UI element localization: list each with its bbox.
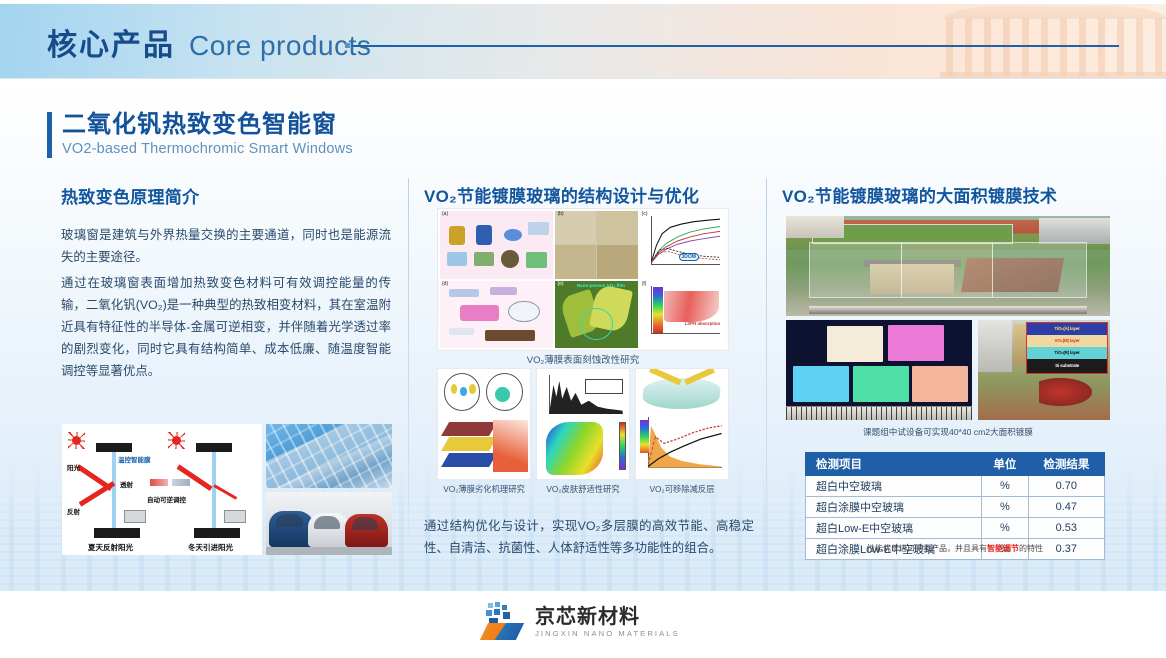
section-accent-bar bbox=[47, 112, 52, 158]
diagram-label-auto: 自动可逆调控 bbox=[147, 494, 186, 504]
table-header-result: 检测结果 bbox=[1028, 453, 1104, 476]
column-a-figure-row: 阳光 温控智能膜 透射 反射 自动可逆调控 夏天反射阳光 冬天引进阳光 bbox=[62, 424, 392, 555]
footnote-highlight: 智能调节 bbox=[987, 544, 1019, 553]
section-title: 二氧化钒热致变色智能窗 VO2-based Thermochromic Smar… bbox=[47, 110, 353, 159]
table-cell-unit: % bbox=[982, 476, 1029, 497]
section-rule bbox=[352, 45, 1119, 47]
colonnade-building-icon bbox=[936, 4, 1166, 78]
sun-icon-winter bbox=[168, 432, 185, 449]
column-divider-2 bbox=[766, 178, 767, 556]
smart-window-principle-diagram: 阳光 温控智能膜 透射 反射 自动可逆调控 夏天反射阳光 冬天引进阳光 bbox=[62, 424, 262, 555]
column-divider-1 bbox=[408, 178, 409, 556]
section-title-cn: 二氧化钒热致变色智能窗 bbox=[62, 110, 353, 140]
figure-caption-1: VO₂薄膜劣化机理研究 bbox=[437, 483, 531, 495]
panel-e-annotation: Nano-porous VO₂ film bbox=[577, 283, 625, 288]
ruler-icon bbox=[786, 406, 972, 420]
footnote-suffix: 的特性 bbox=[1019, 544, 1043, 553]
arrow-left-icon bbox=[150, 479, 168, 486]
panel-f-annotation: LSPR absorption bbox=[685, 321, 721, 326]
column-b-heading: VO₂节能镀膜玻璃的结构设计与优化 bbox=[424, 182, 699, 207]
synthesis-route-panel: (a) bbox=[440, 211, 553, 279]
table-header-unit: 单位 bbox=[982, 453, 1029, 476]
three-cars-photo bbox=[266, 492, 392, 556]
column-c-photo-row: TiO₂(A) layer VO₂(M) layer TiO₂(R) layer… bbox=[786, 320, 1110, 420]
removable-antireflection-layer-figure bbox=[635, 368, 729, 480]
diagram-caption-winter: 冬天引进阳光 bbox=[188, 542, 233, 553]
table-cell-item: 超白中空玻璃 bbox=[806, 476, 982, 497]
film-layer-stack-diagram: TiO₂(A) layer VO₂(M) layer TiO₂(R) layer… bbox=[1026, 322, 1108, 374]
slide-header: 核心产品 Core products bbox=[0, 4, 1166, 78]
table-cell-item: 超白Low-E中空玻璃 bbox=[806, 518, 982, 539]
table-row: 超白Low-E中空玻璃 % 0.53 bbox=[806, 518, 1105, 539]
large-area-coated-glass-outdoor-photo bbox=[786, 216, 1110, 316]
column-a-paragraph-2: 通过在玻璃窗表面增加热致变色材料可有效调控能量的传输，二氧化钒(VO₂)是一种典… bbox=[61, 272, 391, 382]
column-b-figure-bottom-row bbox=[437, 368, 729, 480]
column-c-heading: VO₂节能镀膜玻璃的大面积镀膜技术 bbox=[782, 182, 1057, 207]
layer-tio2-r: TiO₂(R) layer bbox=[1027, 347, 1107, 359]
column-b-figure-top-caption: VO₂薄膜表面刻蚀改性研究 bbox=[437, 352, 729, 366]
layer-tio2-a: TiO₂(A) layer bbox=[1027, 323, 1107, 335]
lspr-absorption-spectra-panel: (f) LSPR absorption bbox=[640, 281, 726, 349]
column-b-figure-bottom-captions: VO₂薄膜劣化机理研究 VO₂皮肤舒适性研究 VO₂可移除减反层 bbox=[437, 483, 729, 495]
column-a-photo-stack bbox=[266, 424, 392, 555]
table-cell-item: 超白涂膜中空玻璃 bbox=[806, 497, 982, 518]
table-cell-result: 0.70 bbox=[1028, 476, 1104, 497]
table-row: 超白中空玻璃 % 0.70 bbox=[806, 476, 1105, 497]
table-cell-result: 0.47 bbox=[1028, 497, 1104, 518]
table-cell-result: 0.53 bbox=[1028, 518, 1104, 539]
arrow-right-icon bbox=[172, 479, 190, 486]
table-header-row: 检测项目 单位 检测结果 bbox=[806, 453, 1105, 476]
jingxin-logo-icon bbox=[482, 602, 526, 642]
column-b-paragraph: 通过结构优化与设计，实现VO₂多层膜的高效节能、高稳定性、自清洁、抗菌性、人体舒… bbox=[424, 515, 754, 559]
figure-caption-2: VO₂皮肤舒适性研究 bbox=[536, 483, 630, 495]
logo-name-cn: 京芯新材料 bbox=[535, 606, 680, 628]
colored-coated-samples-photo bbox=[786, 320, 972, 420]
diagram-label-film: 温控智能膜 bbox=[118, 454, 151, 464]
table-cell-unit: % bbox=[982, 497, 1029, 518]
vo2-structure-figure-panel: (a) (b) (c) 3DOM bbox=[437, 208, 729, 351]
header-title-cn: 核心产品 bbox=[47, 20, 175, 64]
column-a-heading: 热致变色原理简介 bbox=[61, 183, 199, 208]
degradation-mechanism-figure bbox=[437, 368, 531, 480]
layer-vo2-m: VO₂(M) layer bbox=[1027, 335, 1107, 347]
diagram-caption-summer: 夏天反射阳光 bbox=[88, 542, 133, 553]
diagram-label-sunlight: 阳光 bbox=[67, 462, 80, 472]
diagram-label-reflect: 反射 bbox=[67, 506, 80, 516]
logo-text: 京芯新材料 JINGXIN NANO MATERIALS bbox=[535, 606, 680, 639]
transmittance-spectra-panel: (c) 3DOM bbox=[640, 211, 726, 279]
coated-glass-samples-panel: (b) bbox=[555, 211, 637, 279]
logo-name-en: JINGXIN NANO MATERIALS bbox=[535, 629, 680, 639]
company-logo: 京芯新材料 JINGXIN NANO MATERIALS bbox=[482, 602, 680, 642]
panel-c-annotation: 3DOM bbox=[679, 253, 699, 261]
table-footnote: 性能优于进口同类产品，并且具有智能调节的特性 bbox=[805, 543, 1105, 554]
section-title-en: VO2-based Thermochromic Smart Windows bbox=[62, 140, 353, 159]
coated-glass-campus-view-photo: TiO₂(A) layer VO₂(M) layer TiO₂(R) layer… bbox=[978, 320, 1110, 420]
diagram-label-transmit: 透射 bbox=[120, 479, 133, 489]
slide-root: 核心产品 Core products 二氧化钒热致变色智能窗 VO2-based… bbox=[0, 0, 1166, 658]
deposition-process-panel: (d) bbox=[440, 281, 553, 349]
skin-comfort-figure bbox=[536, 368, 630, 480]
sun-icon-summer bbox=[68, 432, 85, 449]
column-c-photo-caption: 课题组中试设备可实现40*40 cm2大面积镀膜 bbox=[786, 426, 1110, 438]
section-rule-dot bbox=[345, 43, 350, 48]
column-a-paragraph-1: 玻璃窗是建筑与外界热量交换的主要通道，同时也是能源流失的主要途径。 bbox=[61, 224, 391, 268]
layer-si-substrate: Si substrate bbox=[1027, 359, 1107, 373]
table-row: 超白涂膜中空玻璃 % 0.47 bbox=[806, 497, 1105, 518]
figure-caption-3: VO₂可移除减反层 bbox=[635, 483, 729, 495]
footnote-prefix: 性能优于进口同类产品，并且具有 bbox=[867, 544, 987, 553]
nano-porous-vo2-film-photo: (e) Nano-porous VO₂ film bbox=[555, 281, 637, 349]
header-title: 核心产品 Core products bbox=[47, 20, 371, 64]
table-cell-unit: % bbox=[982, 518, 1029, 539]
table-header-item: 检测项目 bbox=[806, 453, 982, 476]
glass-curtain-wall-building-photo bbox=[266, 424, 392, 488]
